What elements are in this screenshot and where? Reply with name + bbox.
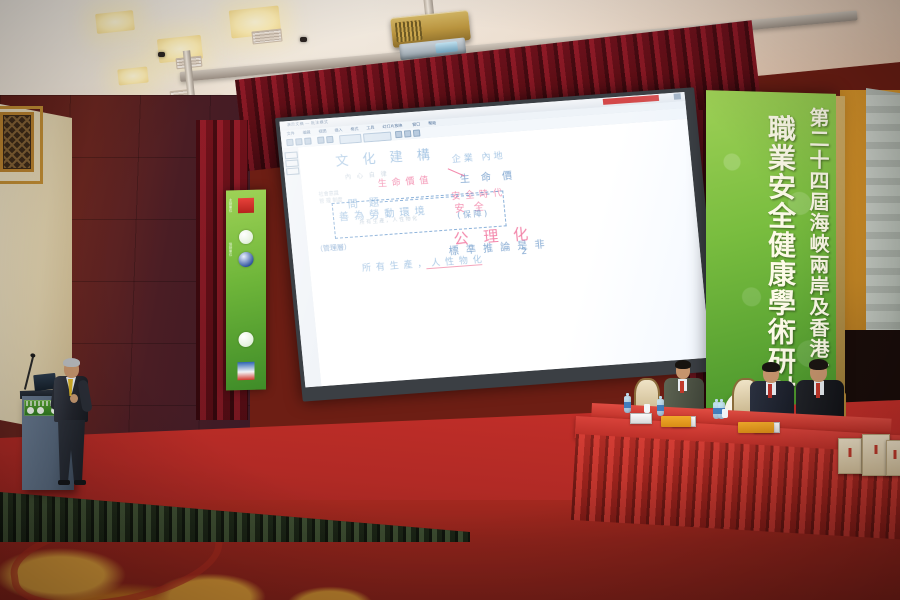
panelist-center-hair bbox=[762, 362, 780, 372]
conference-hall-photo: 演示文稿 — 批注模式 文件 编辑 视图 插入 格式 工具 幻灯片放映 窗口 帮… bbox=[0, 0, 900, 600]
logo-green-figures bbox=[237, 278, 255, 294]
panelist-right-tie bbox=[816, 383, 820, 398]
projector-vent bbox=[395, 20, 423, 43]
slide-line-production: 所 有 生 產 ， 人 性 物 化 bbox=[361, 252, 483, 274]
presenter-hand bbox=[70, 394, 78, 403]
orange-folder-2 bbox=[738, 422, 774, 433]
slide-line-heading: 文 化 建 構 bbox=[334, 143, 435, 169]
open-icon[interactable] bbox=[295, 138, 303, 145]
new-icon[interactable] bbox=[286, 139, 294, 146]
logo-blue-flag bbox=[238, 362, 255, 380]
projection-screen: 演示文稿 — 批注模式 文件 编辑 视图 插入 格式 工具 幻灯片放映 窗口 帮… bbox=[275, 87, 722, 401]
slide-thumb-1[interactable] bbox=[284, 151, 298, 159]
panel-light-4 bbox=[117, 66, 149, 85]
paper-cup-1 bbox=[644, 404, 650, 413]
logo-red-flame bbox=[238, 198, 254, 213]
presenter-shoe-right bbox=[74, 480, 86, 485]
close-icon[interactable] bbox=[674, 93, 682, 99]
gift-bag-3 bbox=[886, 440, 900, 476]
panelist-center-tie bbox=[768, 384, 772, 398]
slide-thumb-2[interactable] bbox=[285, 159, 299, 167]
ceiling-spot-4 bbox=[300, 37, 307, 42]
water-bottle-1 bbox=[624, 396, 631, 413]
panel-light-3 bbox=[95, 10, 135, 34]
logo-green-starburst bbox=[237, 304, 255, 320]
logo-blue-seal bbox=[239, 252, 254, 267]
logo-green-cross bbox=[239, 332, 254, 347]
sponsor-label-main: 主辦單位 bbox=[229, 198, 234, 212]
screen-surface: 演示文稿 — 批注模式 文件 编辑 视图 插入 格式 工具 幻灯片放映 窗口 帮… bbox=[279, 92, 710, 387]
paper-cup-2 bbox=[722, 409, 728, 418]
panelist-left-hair bbox=[675, 360, 691, 369]
slide-canvas[interactable]: 文 化 建 構 企業 內地 內 心 自 律 生 命 價 值 生 命 價 社會意識… bbox=[298, 119, 710, 386]
water-bottle-2 bbox=[657, 399, 664, 416]
orange-folder-1 bbox=[661, 416, 691, 427]
ceiling-spot-1 bbox=[158, 52, 165, 57]
shape-icon[interactable] bbox=[404, 130, 412, 137]
panelist-right-hair bbox=[809, 359, 828, 370]
panelist-left-tie bbox=[680, 381, 684, 393]
slide-line-life-value: 生 命 價 值 bbox=[377, 173, 430, 190]
slide-page-number: 2 bbox=[521, 247, 528, 257]
undo-icon[interactable] bbox=[326, 136, 334, 143]
logo-green-seal bbox=[239, 230, 253, 244]
presenter-shoe-left bbox=[58, 480, 70, 485]
gift-bag-1 bbox=[838, 438, 862, 474]
print-icon[interactable] bbox=[317, 136, 325, 143]
slide-line-enterprise: 企業 內地 bbox=[451, 148, 506, 165]
presenter-hair bbox=[63, 358, 80, 367]
sponsor-label-co: 協辦單位 bbox=[229, 242, 234, 256]
name-card-1 bbox=[630, 413, 652, 424]
chinese-lattice-screen-icon bbox=[0, 112, 34, 172]
slide-line-guarantee: ( 保 障 ) bbox=[457, 208, 488, 221]
slide-thumb-3[interactable] bbox=[286, 167, 300, 175]
sponsor-logo-banner: 主辦單位 協辦單位 bbox=[226, 189, 266, 390]
save-icon[interactable] bbox=[304, 137, 312, 144]
slide-line-mgmt-layer: （管理層） bbox=[316, 242, 352, 255]
pen-icon[interactable] bbox=[395, 131, 403, 138]
slide-line-life-value-2: 生 命 價 bbox=[459, 167, 517, 186]
text-icon[interactable] bbox=[413, 129, 421, 136]
